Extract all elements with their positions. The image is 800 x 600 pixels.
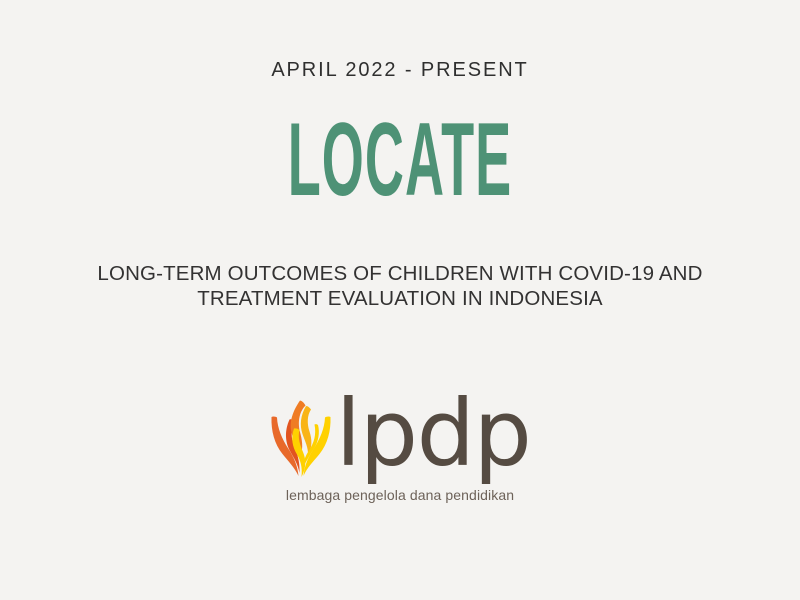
project-subtitle-line-1: LONG-TERM OUTCOMES OF CHILDREN WITH COVI… [50, 261, 750, 286]
lpdp-logo-lockup: lpdp [270, 396, 531, 484]
lpdp-flame-icon [270, 397, 332, 481]
lpdp-tagline: lembaga pengelola dana pendidikan [286, 486, 514, 504]
page-title: LOCATE [192, 108, 608, 212]
project-subtitle-line-2: TREATMENT EVALUATION IN INDONESIA [50, 286, 750, 311]
title-slide: APRIL 2022 - PRESENT LOCATE LONG-TERM OU… [0, 0, 800, 600]
lpdp-wordmark: lpdp [336, 391, 531, 477]
project-subtitle: LONG-TERM OUTCOMES OF CHILDREN WITH COVI… [50, 261, 750, 311]
date-range-label: APRIL 2022 - PRESENT [0, 59, 800, 82]
lpdp-logo: lpdp lembaga pengelola dana pendidikan [0, 396, 800, 504]
